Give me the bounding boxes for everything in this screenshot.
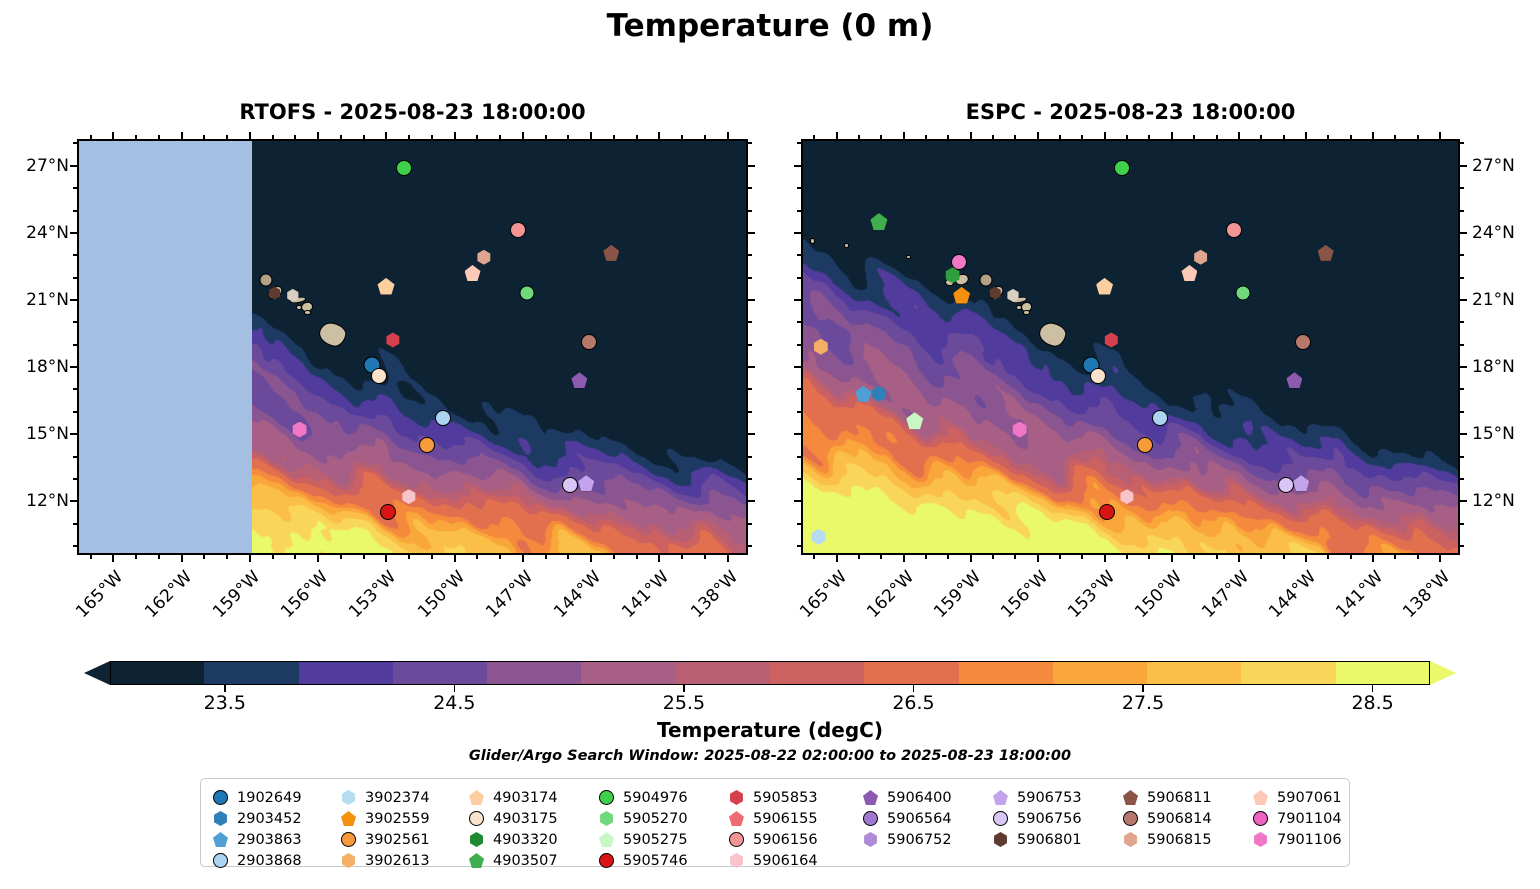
legend-marker-3902561: [341, 832, 356, 847]
xtick-0-6: [522, 555, 524, 562]
legend-label-3902613: 3902613: [365, 853, 430, 869]
legend-item-3902561[interactable]: 3902561: [341, 829, 430, 850]
legend-item-1902649[interactable]: 1902649: [213, 787, 302, 808]
legend-label-5906156: 5906156: [753, 832, 818, 848]
float-marker-5906564[interactable]: [980, 273, 993, 286]
legend-column-8: 590706179011047901106: [1253, 787, 1342, 850]
legend-column-4: 5905853590615559061565906164: [729, 787, 818, 871]
ytick-minor: [73, 187, 77, 189]
ytick-0-4: [70, 433, 77, 435]
xtick-minor: [1216, 555, 1218, 559]
xtick-minor: [992, 555, 994, 559]
xtick-minor: [1126, 555, 1128, 559]
legend-column-1: 3902374390255939025613902613: [341, 787, 430, 871]
xtick-minor: [636, 555, 638, 559]
panel-title-espc: ESPC - 2025-08-23 18:00:00: [801, 100, 1460, 124]
legend-item-5906811[interactable]: 5906811: [1123, 787, 1212, 808]
legend-marker-5906164: [729, 853, 744, 868]
colorbar-segment-1: [204, 661, 299, 685]
ytick-0-4: [748, 433, 755, 435]
legend-item-4903174[interactable]: 4903174: [469, 787, 558, 808]
legend-marker-5906814: [1123, 811, 1138, 826]
xtick-label-1-7: 144°W: [1262, 567, 1320, 625]
xtick-0-0: [112, 132, 114, 139]
legend-label-5906753: 5906753: [1017, 790, 1082, 806]
legend-item-5906815[interactable]: 5906815: [1123, 829, 1212, 850]
xtick-0-7: [590, 555, 592, 562]
legend-label-3902559: 3902559: [365, 811, 430, 827]
legend-column-5: 590640059065645906752: [863, 787, 952, 850]
xtick-minor: [1216, 135, 1218, 139]
ytick-minor: [1460, 478, 1464, 480]
legend-marker-5906801: [993, 832, 1008, 847]
map-panel-rtofs[interactable]: [77, 139, 748, 555]
float-marker-5906756[interactable]: [1278, 477, 1294, 493]
xtick-0-5: [454, 132, 456, 139]
xtick-minor: [90, 135, 92, 139]
legend-item-7901104[interactable]: 7901104: [1253, 808, 1342, 829]
ytick-minor: [797, 277, 801, 279]
xtick-1-7: [1305, 555, 1307, 562]
xtick-1-2: [970, 132, 972, 139]
ytick-minor: [748, 523, 752, 525]
xtick-minor: [226, 555, 228, 559]
xtick-minor: [226, 135, 228, 139]
map-panel-espc[interactable]: [801, 139, 1460, 555]
ytick-minor: [73, 545, 77, 547]
xtick-0-9: [727, 132, 729, 139]
ytick-1-1: [1460, 232, 1467, 234]
legend-label-4903320: 4903320: [493, 832, 558, 848]
colorbar-tick-label-3: 26.5: [892, 692, 934, 714]
xtick-minor: [858, 555, 860, 559]
ytick-label-0-0: 27°N: [5, 156, 69, 176]
legend-marker-5905275: [599, 832, 614, 847]
colorbar-segment-11: [1147, 661, 1242, 685]
ytick-1-2: [794, 299, 801, 301]
xtick-minor: [1283, 135, 1285, 139]
legend-item-5906752[interactable]: 5906752: [863, 829, 952, 850]
xtick-1-1: [903, 132, 905, 139]
colorbar-segment-7: [770, 661, 865, 685]
xtick-minor: [813, 135, 815, 139]
xtick-minor: [158, 555, 160, 559]
xtick-minor: [499, 135, 501, 139]
ytick-1-4: [794, 433, 801, 435]
island-lanai: [1016, 305, 1022, 310]
float-marker-7901104[interactable]: [951, 254, 967, 270]
ytick-label-0-2: 21°N: [5, 290, 69, 310]
ytick-minor: [748, 344, 752, 346]
legend-item-3902559[interactable]: 3902559: [341, 808, 430, 829]
legend-marker-3902559: [341, 811, 356, 826]
xtick-label-1-4: 153°W: [1061, 567, 1119, 625]
ytick-minor: [1460, 344, 1464, 346]
xtick-minor: [1394, 135, 1396, 139]
nodata-mask-rtofs: [79, 141, 252, 553]
colorbar-tick-4: [1142, 685, 1144, 692]
ytick-label-1-1: 24°N: [1472, 223, 1515, 243]
legend-item-2903868[interactable]: 2903868: [213, 850, 302, 871]
xtick-minor: [1014, 555, 1016, 559]
ytick-minor: [73, 456, 77, 458]
legend-item-2903863[interactable]: 2903863: [213, 829, 302, 850]
xtick-0-0: [112, 555, 114, 562]
xtick-1-8: [1372, 555, 1374, 562]
xtick-label-0-4: 153°W: [342, 567, 400, 625]
colorbar-tick-label-2: 25.5: [663, 692, 705, 714]
legend-marker-7901104: [1253, 811, 1268, 826]
search-window-caption: Glider/Argo Search Window: 2025-08-22 02…: [0, 748, 1540, 764]
legend-item-5906756[interactable]: 5906756: [993, 808, 1082, 829]
legend-label-1902649: 1902649: [237, 790, 302, 806]
xtick-minor: [340, 135, 342, 139]
xtick-1-5: [1171, 132, 1173, 139]
ytick-0-1: [70, 232, 77, 234]
figure-suptitle: Temperature (0 m): [0, 8, 1540, 44]
ytick-minor: [73, 210, 77, 212]
legend-label-4903175: 4903175: [493, 811, 558, 827]
float-marker-4903175[interactable]: [371, 368, 387, 384]
ytick-0-2: [748, 299, 755, 301]
colorbar-segment-0: [110, 661, 205, 685]
colorbar-segment-8: [864, 661, 959, 685]
xtick-0-3: [317, 555, 319, 562]
colorbar-tick-3: [913, 685, 915, 692]
xtick-minor: [880, 135, 882, 139]
legend-marker-5906753: [993, 790, 1008, 805]
legend-column-3: 5904976590527059052755905746: [599, 787, 688, 871]
xtick-label-0-8: 141°W: [615, 567, 673, 625]
xtick-0-8: [658, 132, 660, 139]
colorbar-tick-label-1: 24.5: [433, 692, 475, 714]
ytick-minor: [1460, 388, 1464, 390]
ytick-minor: [748, 545, 752, 547]
legend-marker-5906756: [993, 811, 1008, 826]
colorbar-segment-10: [1053, 661, 1148, 685]
xtick-label-1-5: 150°W: [1128, 567, 1186, 625]
ytick-minor: [73, 411, 77, 413]
xtick-minor: [1148, 555, 1150, 559]
ytick-0-2: [70, 299, 77, 301]
legend-marker-5906752: [863, 832, 878, 847]
ytick-0-5: [70, 500, 77, 502]
legend-item-5906801[interactable]: 5906801: [993, 829, 1082, 850]
xtick-0-7: [590, 132, 592, 139]
ytick-minor: [1460, 142, 1464, 144]
colorbar-tick-2: [683, 685, 685, 692]
xtick-minor: [363, 555, 365, 559]
xtick-minor: [1148, 135, 1150, 139]
ytick-minor: [748, 388, 752, 390]
legend-marker-3902613: [341, 853, 356, 868]
legend-marker-5904976: [599, 790, 614, 805]
xtick-minor: [1417, 135, 1419, 139]
xtick-minor: [636, 135, 638, 139]
ytick-label-1-0: 27°N: [1472, 156, 1515, 176]
xtick-minor: [272, 555, 274, 559]
xtick-label-1-3: 156°W: [994, 567, 1052, 625]
float-marker-3902561[interactable]: [419, 437, 435, 453]
xtick-minor: [135, 555, 137, 559]
ytick-minor: [748, 142, 752, 144]
legend-column-6: 590675359067565906801: [993, 787, 1082, 850]
ytick-minor: [797, 411, 801, 413]
legend-marker-5905270: [599, 811, 614, 826]
xtick-label-0-7: 144°W: [547, 567, 605, 625]
legend-item-5905746[interactable]: 5905746: [599, 850, 688, 871]
island-kahoolawe: [304, 310, 311, 315]
legend-marker-5907061: [1253, 790, 1268, 805]
ytick-1-3: [794, 366, 801, 368]
float-marker-5906814[interactable]: [581, 334, 597, 350]
ytick-minor: [748, 210, 752, 212]
colorbar-segment-6: [676, 661, 771, 685]
ytick-0-3: [748, 366, 755, 368]
ytick-minor: [1460, 321, 1464, 323]
legend-column-2: 4903174490317549033204903507: [469, 787, 558, 871]
xtick-minor: [681, 555, 683, 559]
legend-label-5906756: 5906756: [1017, 811, 1082, 827]
legend-label-3902561: 3902561: [365, 832, 430, 848]
ytick-minor: [797, 344, 801, 346]
float-marker-5905270[interactable]: [520, 286, 535, 301]
xtick-minor: [1417, 555, 1419, 559]
colorbar-tick-label-4: 27.5: [1122, 692, 1164, 714]
ytick-label-1-5: 12°N: [1472, 491, 1515, 511]
ytick-minor: [797, 388, 801, 390]
xtick-minor: [925, 555, 927, 559]
xtick-minor: [947, 555, 949, 559]
legend-label-4903507: 4903507: [493, 853, 558, 869]
ytick-minor: [1460, 187, 1464, 189]
xtick-1-9: [1439, 555, 1441, 562]
xtick-1-5: [1171, 555, 1173, 562]
xtick-1-0: [836, 555, 838, 562]
legend-label-5906164: 5906164: [753, 853, 818, 869]
ytick-0-0: [748, 165, 755, 167]
colorbar-segment-5: [581, 661, 676, 685]
xtick-minor: [294, 135, 296, 139]
xtick-label-1-0: 165°W: [793, 567, 851, 625]
ytick-minor: [748, 254, 752, 256]
ytick-minor: [797, 187, 801, 189]
legend-marker-5905853: [729, 790, 744, 805]
float-marker-5905746[interactable]: [380, 504, 396, 520]
legend-label-4903174: 4903174: [493, 790, 558, 806]
xtick-0-2: [249, 132, 251, 139]
float-id-legend[interactable]: 1902649290345229038632903868390237439025…: [200, 778, 1350, 867]
colorbar-tick-0: [224, 685, 226, 692]
legend-item-5904976[interactable]: 5904976: [599, 787, 688, 808]
xtick-1-3: [1037, 555, 1039, 562]
legend-label-5906801: 5906801: [1017, 832, 1082, 848]
xtick-label-1-1: 162°W: [860, 567, 918, 625]
legend-item-5905853[interactable]: 5905853: [729, 787, 818, 808]
panel-title-rtofs: RTOFS - 2025-08-23 18:00:00: [77, 100, 748, 124]
colorbar-segment-4: [487, 661, 582, 685]
ytick-minor: [748, 456, 752, 458]
float-marker-2903868[interactable]: [1152, 410, 1168, 426]
legend-item-4903175[interactable]: 4903175: [469, 808, 558, 829]
xtick-minor: [567, 555, 569, 559]
legend-marker-4903174: [469, 790, 484, 805]
xtick-label-0-1: 162°W: [138, 567, 196, 625]
xtick-label-1-6: 147°W: [1195, 567, 1253, 625]
legend-item-5905275[interactable]: 5905275: [599, 829, 688, 850]
ytick-1-5: [1460, 500, 1467, 502]
legend-item-3902374[interactable]: 3902374: [341, 787, 430, 808]
float-marker-4903175[interactable]: [1090, 368, 1106, 384]
xtick-minor: [1059, 135, 1061, 139]
float-marker-2903868[interactable]: [435, 410, 451, 426]
xtick-minor: [545, 555, 547, 559]
legend-item-4903320[interactable]: 4903320: [469, 829, 558, 850]
legend-item-5906400[interactable]: 5906400: [863, 787, 952, 808]
ytick-minor: [797, 210, 801, 212]
island-gardner: [810, 238, 815, 244]
xtick-minor: [1014, 135, 1016, 139]
float-marker-5904976[interactable]: [1114, 160, 1130, 176]
ytick-minor: [748, 321, 752, 323]
xtick-0-5: [454, 555, 456, 562]
xtick-minor: [947, 135, 949, 139]
float-marker-5906564[interactable]: [259, 273, 272, 286]
xtick-0-8: [658, 555, 660, 562]
legend-item-7901106[interactable]: 7901106: [1253, 829, 1342, 850]
legend-item-5906156[interactable]: 5906156: [729, 829, 818, 850]
xtick-minor: [1327, 555, 1329, 559]
xtick-0-9: [727, 555, 729, 562]
xtick-minor: [1193, 555, 1195, 559]
xtick-1-6: [1238, 555, 1240, 562]
legend-label-5905270: 5905270: [623, 811, 688, 827]
legend-item-4903507[interactable]: 4903507: [469, 850, 558, 871]
colorbar-tick-label-5: 28.5: [1351, 692, 1393, 714]
ytick-0-3: [70, 366, 77, 368]
float-marker-5904976[interactable]: [396, 160, 412, 176]
legend-item-5906155[interactable]: 5906155: [729, 808, 818, 829]
ytick-label-1-3: 18°N: [1472, 357, 1515, 377]
xtick-minor: [1260, 135, 1262, 139]
xtick-minor: [1283, 555, 1285, 559]
xtick-minor: [681, 135, 683, 139]
legend-marker-7901106: [1253, 832, 1268, 847]
ytick-minor: [73, 344, 77, 346]
legend-item-3902613[interactable]: 3902613: [341, 850, 430, 871]
float-marker-5906814[interactable]: [1295, 334, 1311, 350]
ytick-minor: [797, 456, 801, 458]
float-marker-5906156[interactable]: [1226, 222, 1242, 238]
colorbar[interactable]: [110, 661, 1430, 685]
legend-marker-5906155: [729, 811, 744, 826]
legend-item-5905270[interactable]: 5905270: [599, 808, 688, 829]
legend-label-2903868: 2903868: [237, 853, 302, 869]
legend-item-2903452[interactable]: 2903452: [213, 808, 302, 829]
xtick-minor: [545, 135, 547, 139]
colorbar-tick-5: [1372, 685, 1374, 692]
ytick-minor: [1460, 254, 1464, 256]
figure-root: Temperature (0 m) RTOFS - 2025-08-23 18:…: [0, 0, 1540, 889]
float-marker-3902561[interactable]: [1137, 437, 1153, 453]
legend-marker-4903507: [469, 853, 484, 868]
ytick-minor: [1460, 411, 1464, 413]
legend-label-2903863: 2903863: [237, 832, 302, 848]
xtick-minor: [704, 555, 706, 559]
island-kahoolawe: [1023, 310, 1030, 315]
legend-label-5906564: 5906564: [887, 811, 952, 827]
ytick-minor: [797, 254, 801, 256]
ytick-minor: [73, 388, 77, 390]
ytick-minor: [797, 321, 801, 323]
ytick-minor: [1460, 523, 1464, 525]
ytick-minor: [797, 478, 801, 480]
xtick-0-1: [181, 132, 183, 139]
xtick-label-1-8: 141°W: [1329, 567, 1387, 625]
float-marker-5906756[interactable]: [562, 477, 578, 493]
float-marker-5906156[interactable]: [510, 222, 526, 238]
ytick-minor: [73, 254, 77, 256]
xtick-minor: [858, 135, 860, 139]
xtick-minor: [1059, 555, 1061, 559]
xtick-minor: [90, 555, 92, 559]
legend-marker-5906564: [863, 811, 878, 826]
legend-marker-5906400: [863, 790, 878, 805]
legend-item-5907061[interactable]: 5907061: [1253, 787, 1342, 808]
xtick-minor: [272, 135, 274, 139]
colorbar-segment-3: [393, 661, 488, 685]
xtick-minor: [476, 555, 478, 559]
colorbar-extend-min: [84, 661, 110, 685]
xtick-minor: [704, 135, 706, 139]
ytick-label-0-1: 24°N: [5, 223, 69, 243]
colorbar-segment-2: [299, 661, 394, 685]
ytick-minor: [748, 187, 752, 189]
float-marker-5905270[interactable]: [1236, 286, 1251, 301]
legend-label-5906811: 5906811: [1147, 790, 1212, 806]
legend-item-5906564[interactable]: 5906564: [863, 808, 952, 829]
ytick-0-5: [748, 500, 755, 502]
xtick-1-4: [1104, 555, 1106, 562]
legend-label-5906814: 5906814: [1147, 811, 1212, 827]
legend-label-5905275: 5905275: [623, 832, 688, 848]
xtick-minor: [1193, 135, 1195, 139]
xtick-minor: [135, 135, 137, 139]
legend-marker-4903320: [469, 832, 484, 847]
ytick-minor: [797, 142, 801, 144]
float-marker-5905746[interactable]: [1099, 504, 1115, 520]
legend-label-7901106: 7901106: [1277, 832, 1342, 848]
ytick-1-1: [794, 232, 801, 234]
legend-marker-4903175: [469, 811, 484, 826]
legend-item-5906753[interactable]: 5906753: [993, 787, 1082, 808]
legend-item-5906164[interactable]: 5906164: [729, 850, 818, 871]
legend-label-5906752: 5906752: [887, 832, 952, 848]
ytick-1-4: [1460, 433, 1467, 435]
xtick-0-4: [385, 555, 387, 562]
legend-item-5906814[interactable]: 5906814: [1123, 808, 1212, 829]
legend-column-0: 1902649290345229038632903868: [213, 787, 302, 871]
ytick-label-1-4: 15°N: [1472, 424, 1515, 444]
ytick-0-0: [70, 165, 77, 167]
colorbar-tick-1: [454, 685, 456, 692]
legend-label-5906155: 5906155: [753, 811, 818, 827]
xtick-minor: [363, 135, 365, 139]
xtick-1-9: [1439, 132, 1441, 139]
xtick-label-0-2: 159°W: [206, 567, 264, 625]
legend-marker-2903863: [213, 832, 228, 847]
ytick-minor: [748, 411, 752, 413]
